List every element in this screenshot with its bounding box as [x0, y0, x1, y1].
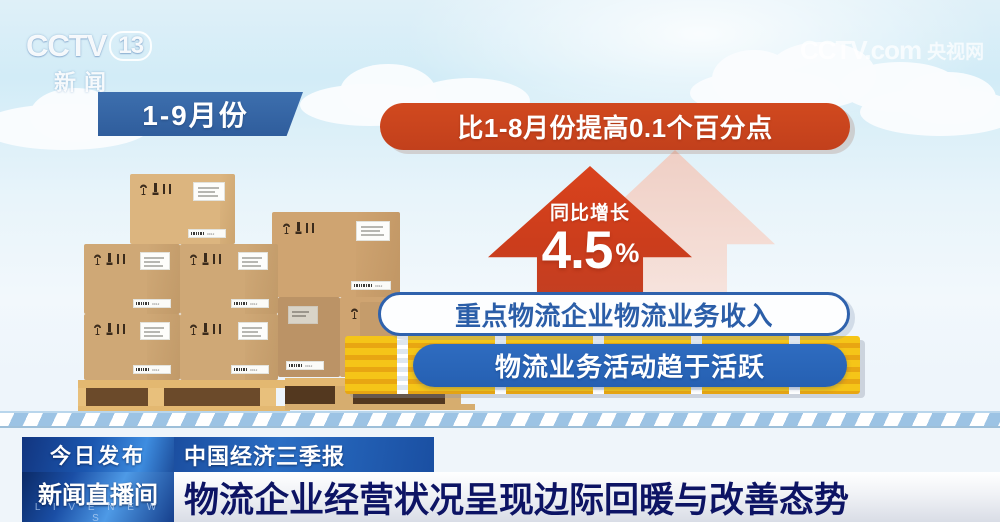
box-back-right-top: 0012: [272, 212, 400, 297]
box-shipping-label: [356, 221, 390, 241]
floor-hazard-stripe: [0, 411, 1000, 428]
box-handling-glyphs: [282, 222, 314, 234]
cctv-logo-text: CCTV: [26, 28, 106, 64]
box-mid-right: 0012: [180, 244, 278, 314]
watermark-latin: CCTV.com: [800, 35, 921, 66]
blue-pill-label: 物流业务活动趋于活跃: [413, 344, 847, 387]
today-label: 今日发布: [22, 437, 174, 472]
red-banner-label: 比1-8月份提高0.1个百分点: [380, 103, 850, 150]
cctv-com-watermark: CCTV.com 央视网: [800, 26, 990, 74]
watermark-chinese: 央视网: [927, 37, 984, 64]
pallet-main: [78, 380, 290, 412]
box-back-right-mid-left: 0012: [278, 297, 340, 377]
cctv-logo: CCTV 13 新闻: [26, 28, 194, 86]
screenshot-stage: CCTV 13 新闻 CCTV.com 央视网 0012: [0, 0, 1000, 522]
box-barcode: 0012: [351, 281, 391, 290]
white-pill-label: 重点物流企业物流业务收入: [378, 292, 850, 336]
growth-unit: %: [615, 238, 638, 268]
box-bottom-left: 0012: [84, 314, 180, 380]
growth-value-group: 4.5%: [488, 224, 692, 277]
box-top-center: 0012: [130, 174, 235, 244]
box-mid-left: 0012: [84, 244, 180, 314]
growth-value: 4.5: [542, 221, 613, 280]
cctv-logo-number: 13: [109, 31, 152, 61]
topic-label: 中国经济三季报: [174, 437, 434, 472]
box-bottom-right: 0012: [180, 314, 278, 380]
program-brand: 新闻直播间 L I V E N E W S: [22, 472, 174, 522]
month-tag-label: 1-9月份: [98, 92, 303, 136]
headline-text: 物流企业经营状况呈现边际回暖与改善态势: [174, 472, 1000, 522]
program-name-en: L I V E N E W S: [30, 502, 166, 522]
